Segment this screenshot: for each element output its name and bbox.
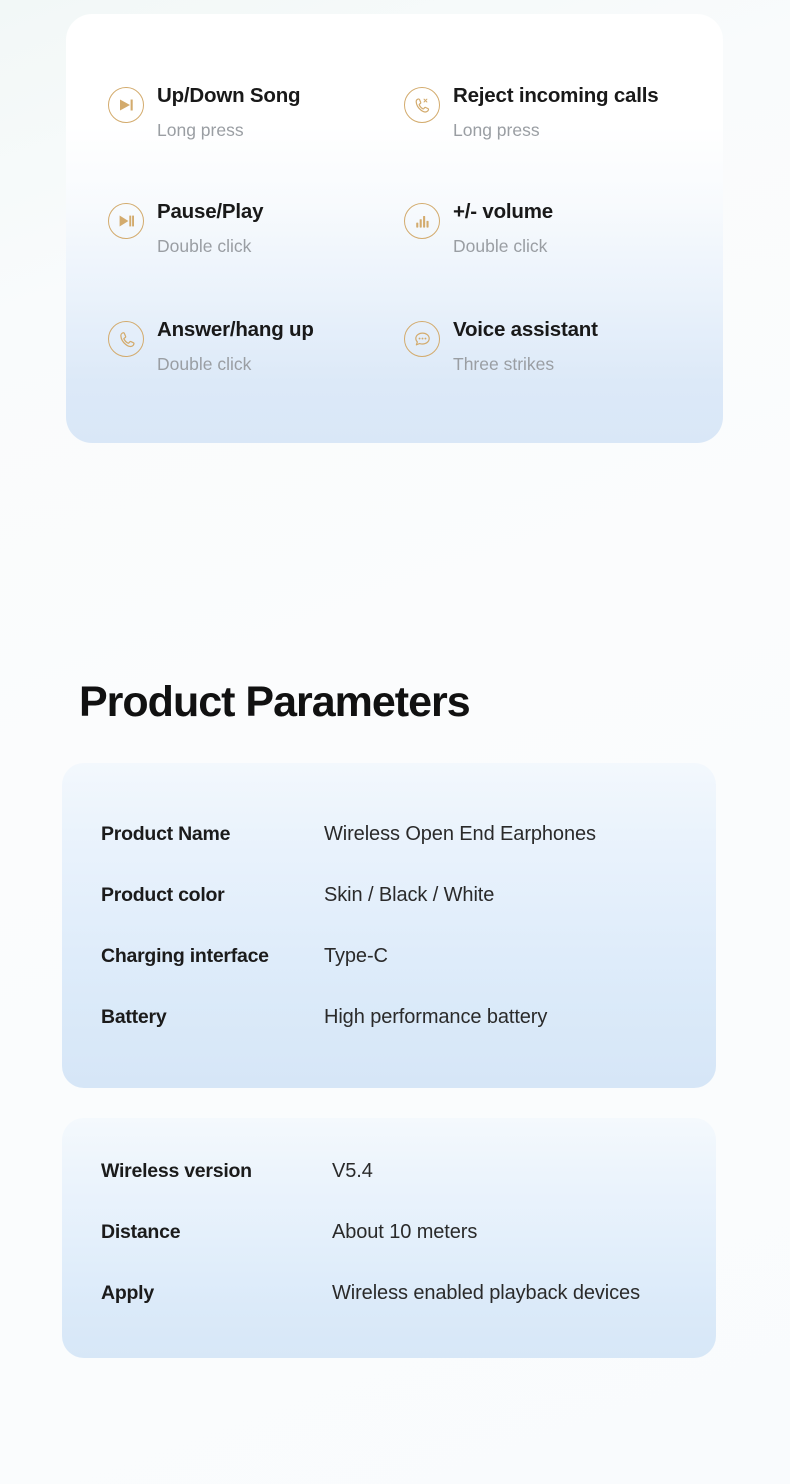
- control-gestures-grid: Up/Down Song Long press Reject incoming …: [66, 14, 723, 443]
- feature-title: Voice assistant: [453, 318, 598, 342]
- feature-gesture: Long press: [453, 120, 658, 141]
- reject-call-icon: [404, 87, 440, 123]
- spec-value: Wireless enabled playback devices: [332, 1282, 640, 1305]
- feature-gesture: Double click: [453, 236, 553, 257]
- spec-label: Battery: [101, 1006, 166, 1029]
- product-parameters-card-2: Wireless version V5.4 Distance About 10 …: [62, 1118, 716, 1358]
- spec-value: About 10 meters: [332, 1221, 477, 1244]
- feature-item-pause-play: Pause/Play Double click: [108, 200, 263, 257]
- feature-item-volume: +/- volume Double click: [404, 200, 553, 257]
- feature-gesture: Long press: [157, 120, 300, 141]
- page-title: Product Parameters: [79, 679, 470, 726]
- feature-gesture: Double click: [157, 236, 263, 257]
- spec-value: Type-C: [324, 945, 388, 968]
- feature-item-answer-hang-up: Answer/hang up Double click: [108, 318, 314, 375]
- voice-assistant-icon: [404, 321, 440, 357]
- feature-text-pause-play: Pause/Play Double click: [157, 200, 263, 257]
- feature-gesture: Double click: [157, 354, 314, 375]
- feature-text-volume: +/- volume Double click: [453, 200, 553, 257]
- feature-item-up-down-song: Up/Down Song Long press: [108, 84, 300, 141]
- spec-label: Charging interface: [101, 945, 269, 968]
- feature-text-up-down-song: Up/Down Song Long press: [157, 84, 300, 141]
- feature-title: +/- volume: [453, 200, 553, 224]
- control-gestures-card: Up/Down Song Long press Reject incoming …: [66, 14, 723, 443]
- feature-text-reject-incoming-calls: Reject incoming calls Long press: [453, 84, 658, 141]
- spec-label: Product color: [101, 884, 225, 907]
- feature-item-voice-assistant: Voice assistant Three strikes: [404, 318, 598, 375]
- pause-play-icon: [108, 203, 144, 239]
- spec-value: Wireless Open End Earphones: [324, 823, 596, 846]
- feature-title: Up/Down Song: [157, 84, 300, 108]
- spec-value: High performance battery: [324, 1006, 547, 1029]
- feature-gesture: Three strikes: [453, 354, 598, 375]
- feature-title: Pause/Play: [157, 200, 263, 224]
- feature-text-answer-hang-up: Answer/hang up Double click: [157, 318, 314, 375]
- feature-title: Reject incoming calls: [453, 84, 658, 108]
- product-parameters-card-1: Product Name Wireless Open End Earphones…: [62, 763, 716, 1088]
- feature-text-voice-assistant: Voice assistant Three strikes: [453, 318, 598, 375]
- volume-bars-icon: [404, 203, 440, 239]
- spec-label: Distance: [101, 1221, 180, 1244]
- spec-label: Apply: [101, 1282, 154, 1305]
- phone-icon: [108, 321, 144, 357]
- spec-value: Skin / Black / White: [324, 884, 494, 907]
- next-track-icon: [108, 87, 144, 123]
- spec-value: V5.4: [332, 1160, 373, 1183]
- spec-label: Product Name: [101, 823, 230, 846]
- feature-item-reject-incoming-calls: Reject incoming calls Long press: [404, 84, 658, 141]
- feature-title: Answer/hang up: [157, 318, 314, 342]
- spec-label: Wireless version: [101, 1160, 252, 1183]
